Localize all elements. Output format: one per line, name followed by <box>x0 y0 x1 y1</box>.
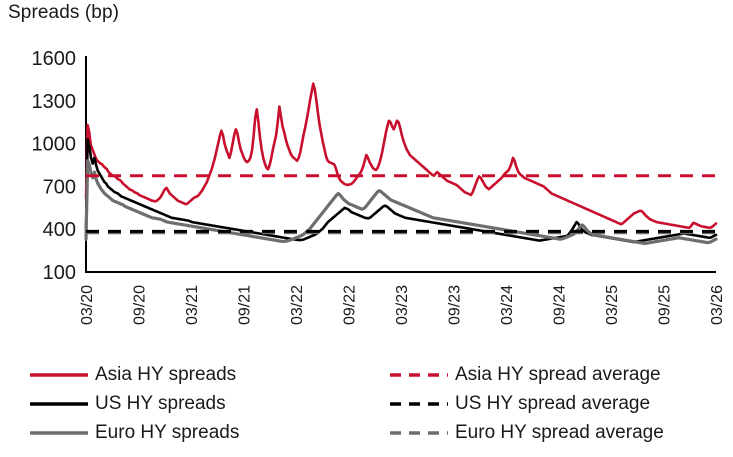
x-axis-tick-label-6: 03/23 <box>394 285 411 325</box>
x-axis-tick-label-5: 09/22 <box>342 285 359 325</box>
y-axis-tick-label-3: 700 <box>43 176 76 198</box>
x-axis-tick-label-7: 09/23 <box>447 285 464 325</box>
x-axis-tick-label-1: 09/20 <box>132 285 149 325</box>
legend-label-us-hy-spreads[interactable]: US HY spreads <box>95 393 226 414</box>
y-axis-tick-label-5: 100 <box>43 262 76 284</box>
x-axis-tick-label-10: 03/25 <box>604 285 621 325</box>
series-line-asia-hy-spreads <box>86 84 716 228</box>
x-axis-tick-label-12: 03/26 <box>709 285 726 325</box>
y-axis-tick-label-4: 400 <box>43 219 76 241</box>
x-axis-tick-label-11: 09/25 <box>657 285 674 325</box>
spreads-chart: Spreads (bp) 16001300100070040010003/200… <box>0 0 733 457</box>
x-axis-tick-label-3: 09/21 <box>237 285 254 325</box>
x-axis-tick-label-0: 03/20 <box>79 285 96 325</box>
chart-plot-area: 16001300100070040010003/2009/2003/2109/2… <box>0 0 733 457</box>
x-axis-tick-label-2: 03/21 <box>184 285 201 325</box>
legend-label-asia-hy-spread-average[interactable]: Asia HY spread average <box>455 364 661 385</box>
legend-label-euro-hy-spread-average[interactable]: Euro HY spread average <box>455 422 664 443</box>
y-axis-tick-label-0: 1600 <box>32 48 77 70</box>
x-axis-tick-label-9: 09/24 <box>552 285 569 325</box>
series-line-us-hy-spreads <box>86 139 716 242</box>
y-axis-tick-label-2: 1000 <box>32 134 77 156</box>
x-axis-tick-label-8: 03/24 <box>499 285 516 325</box>
legend-label-us-hy-spread-average[interactable]: US HY spread average <box>455 393 650 414</box>
y-axis-tick-label-1: 1300 <box>32 91 77 113</box>
x-axis-tick-label-4: 03/22 <box>289 285 306 325</box>
legend-label-euro-hy-spreads[interactable]: Euro HY spreads <box>95 422 239 443</box>
legend-label-asia-hy-spreads[interactable]: Asia HY spreads <box>95 364 236 385</box>
